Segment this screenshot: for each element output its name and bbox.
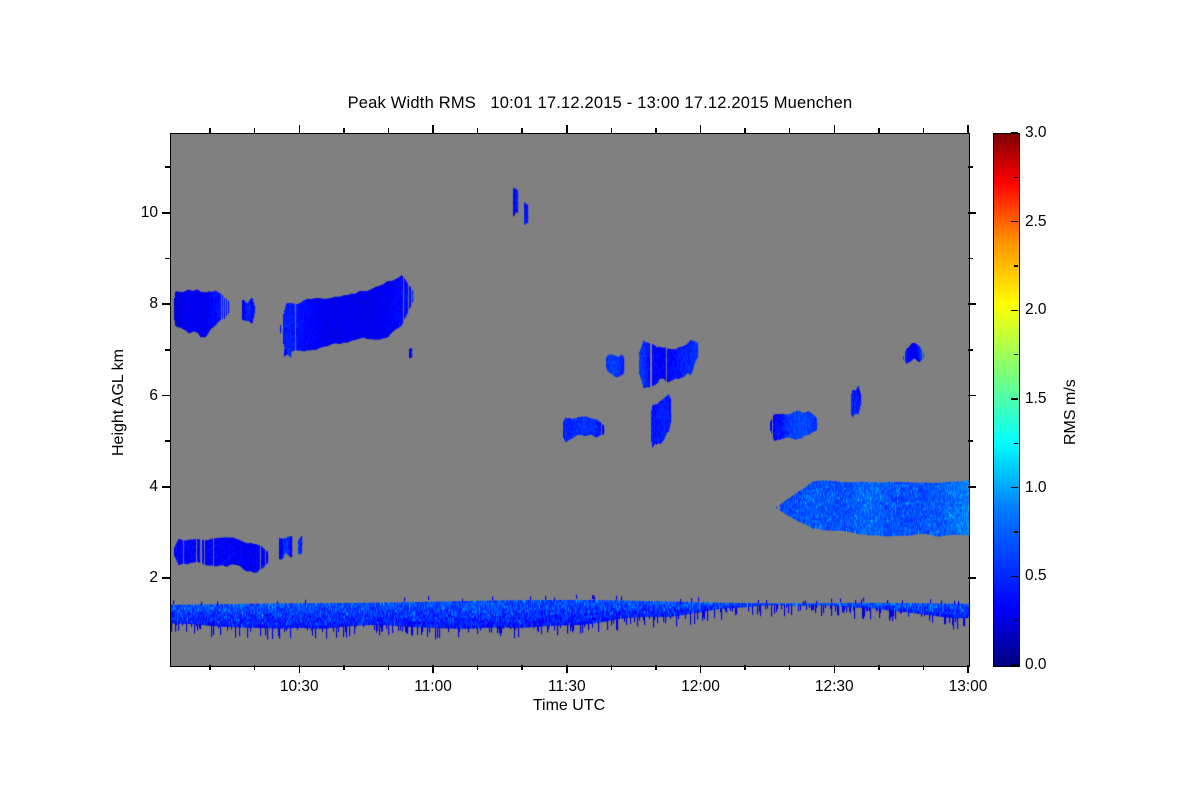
y-tick-major-right <box>968 303 976 305</box>
x-tick-minor-top <box>209 128 211 133</box>
colorbar-tick-minor <box>1014 265 1018 267</box>
x-tick-major-top <box>967 125 969 133</box>
x-tick-major-top <box>700 125 702 133</box>
x-tick-minor <box>477 665 479 670</box>
y-tick-major <box>162 577 170 579</box>
y-tick-major <box>162 395 170 397</box>
colorbar-tick-minor <box>1014 531 1018 533</box>
y-tick-label: 6 <box>132 387 158 405</box>
colorbar-tick-minor <box>1014 443 1018 445</box>
x-tick-minor-top <box>878 128 880 133</box>
y-axis-title: Height AGL km <box>110 349 128 456</box>
y-tick-major <box>162 212 170 214</box>
y-tick-minor-right <box>968 440 973 442</box>
colorbar-tick-major <box>1011 132 1018 134</box>
y-tick-minor <box>165 166 170 168</box>
y-tick-minor <box>165 258 170 260</box>
x-tick-major <box>432 665 434 673</box>
x-tick-minor <box>923 665 925 670</box>
x-tick-label: 12:00 <box>681 678 720 696</box>
x-tick-label: 12:30 <box>815 678 854 696</box>
y-tick-minor-right <box>968 349 973 351</box>
y-tick-minor <box>165 349 170 351</box>
chart-title: Peak Width RMS 10:01 17.12.2015 - 13:00 … <box>0 94 1200 113</box>
x-tick-major-top <box>432 125 434 133</box>
chart-page: Peak Width RMS 10:01 17.12.2015 - 13:00 … <box>0 0 1200 800</box>
x-tick-minor-top <box>254 128 256 133</box>
x-tick-major-top <box>566 125 568 133</box>
y-tick-major-right <box>968 577 976 579</box>
x-tick-minor-top <box>611 128 613 133</box>
colorbar-tick-label: 2.0 <box>1025 301 1047 319</box>
colorbar-tick-label: 0.5 <box>1025 567 1047 585</box>
y-tick-label: 2 <box>132 569 158 587</box>
x-tick-minor <box>655 665 657 670</box>
x-tick-major <box>566 665 568 673</box>
x-tick-minor <box>878 665 880 670</box>
colorbar-tick-major <box>1011 310 1018 312</box>
x-tick-minor <box>611 665 613 670</box>
colorbar-tick-label: 1.5 <box>1025 390 1047 408</box>
x-tick-minor <box>343 665 345 670</box>
colorbar-tick-major <box>1011 398 1018 400</box>
x-tick-label: 10:30 <box>280 678 319 696</box>
x-tick-major <box>967 665 969 673</box>
plot-area <box>170 133 970 667</box>
colorbar-title: RMS m/s <box>1062 379 1080 445</box>
colorbar-tick-label: 1.0 <box>1025 479 1047 497</box>
x-tick-minor-top <box>477 128 479 133</box>
y-tick-minor-right <box>968 258 973 260</box>
x-tick-major-top <box>299 125 301 133</box>
colorbar-tick-minor <box>1014 177 1018 179</box>
x-tick-minor-top <box>343 128 345 133</box>
colorbar <box>993 133 1020 667</box>
x-tick-minor-top <box>388 128 390 133</box>
heatmap-canvas <box>171 134 969 666</box>
x-tick-major <box>299 665 301 673</box>
y-tick-label: 4 <box>132 478 158 496</box>
colorbar-tick-major <box>1011 664 1018 666</box>
x-tick-minor-top <box>744 128 746 133</box>
x-tick-minor <box>789 665 791 670</box>
x-tick-minor <box>521 665 523 670</box>
y-tick-major <box>162 486 170 488</box>
y-tick-major <box>162 303 170 305</box>
x-tick-minor-top <box>789 128 791 133</box>
colorbar-tick-minor <box>1014 620 1018 622</box>
colorbar-tick-label: 0.0 <box>1025 656 1047 674</box>
x-axis-title: Time UTC <box>533 697 605 715</box>
y-tick-minor <box>165 440 170 442</box>
colorbar-tick-label: 3.0 <box>1025 124 1047 142</box>
y-tick-minor-right <box>968 166 973 168</box>
y-tick-label: 8 <box>132 295 158 313</box>
colorbar-tick-minor <box>1014 354 1018 356</box>
y-tick-major-right <box>968 212 976 214</box>
colorbar-tick-major <box>1011 576 1018 578</box>
x-tick-minor-top <box>923 128 925 133</box>
y-tick-major-right <box>968 395 976 397</box>
x-tick-major-top <box>834 125 836 133</box>
colorbar-tick-major <box>1011 221 1018 223</box>
x-tick-major <box>700 665 702 673</box>
x-tick-minor-top <box>521 128 523 133</box>
x-tick-major <box>834 665 836 673</box>
y-tick-label: 10 <box>132 204 158 222</box>
x-tick-label: 13:00 <box>949 678 988 696</box>
x-tick-minor <box>209 665 211 670</box>
colorbar-tick-major <box>1011 487 1018 489</box>
y-tick-major-right <box>968 486 976 488</box>
colorbar-tick-label: 2.5 <box>1025 213 1047 231</box>
x-tick-label: 11:30 <box>548 678 586 696</box>
x-tick-minor <box>254 665 256 670</box>
x-tick-minor <box>388 665 390 670</box>
x-tick-label: 11:00 <box>414 678 452 696</box>
x-tick-minor <box>744 665 746 670</box>
x-tick-minor-top <box>655 128 657 133</box>
